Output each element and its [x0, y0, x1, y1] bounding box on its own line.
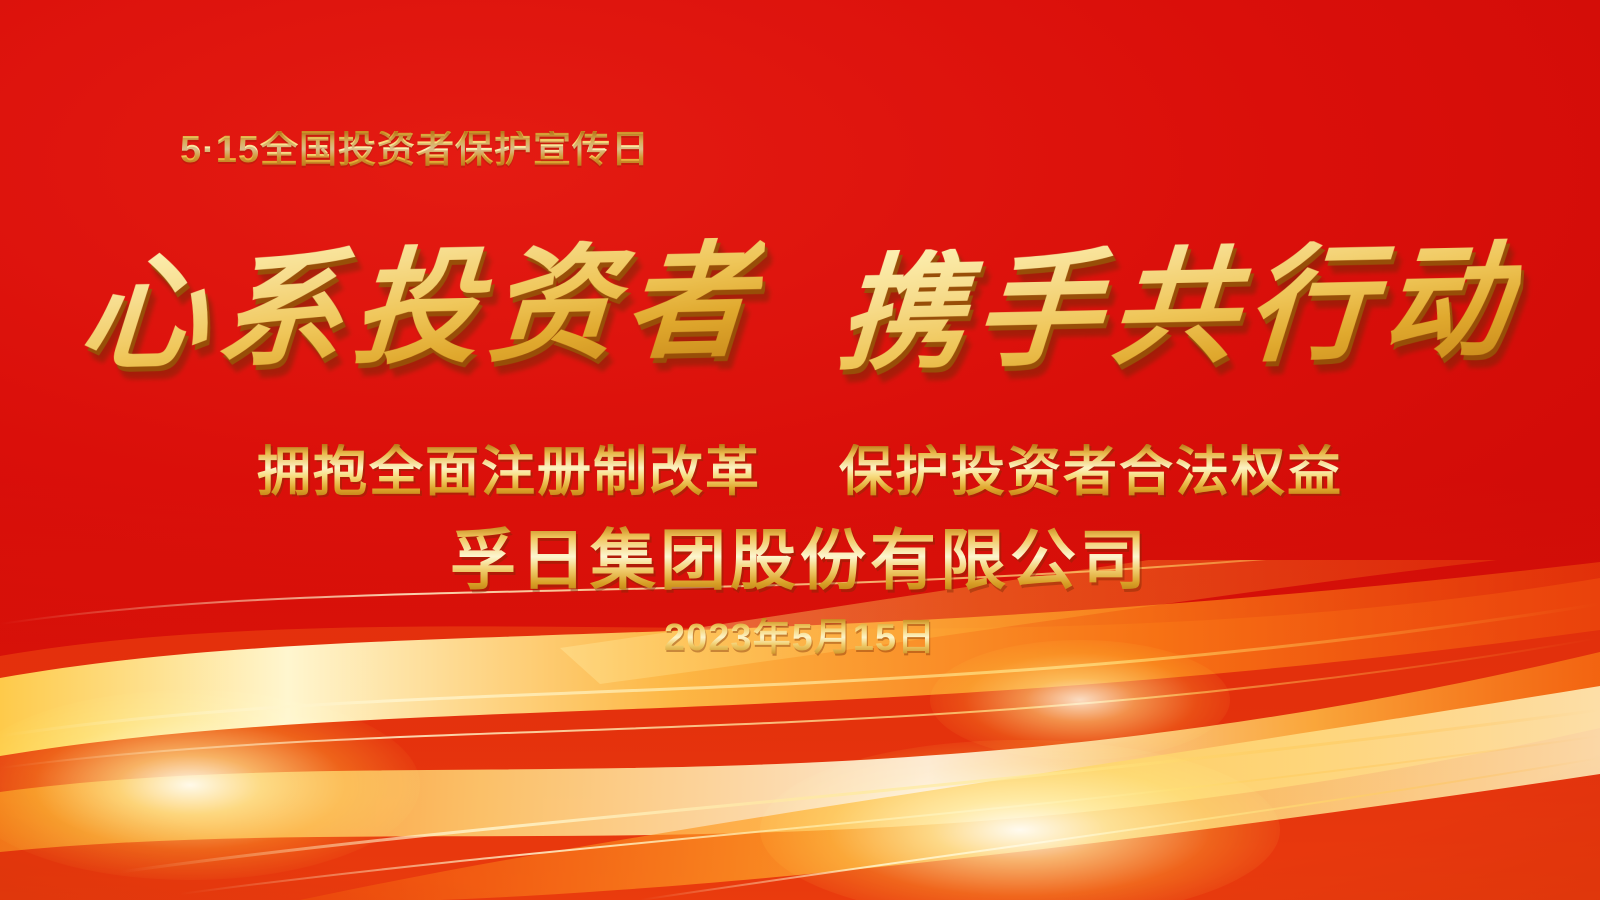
secondary-slogan-part-1: 拥抱全面注册制改革 — [257, 442, 761, 502]
secondary-slogan-part-2: 保护投资者合法权益 — [839, 442, 1343, 502]
campaign-day-label: 5·15全国投资者保护宣传日 — [180, 131, 650, 169]
poster-canvas: 5·15全国投资者保护宣传日 心系投资者 携手共行动 拥抱全面注册制改革 保护投… — [0, 0, 1600, 900]
company-name: 孚日集团股份有限公司 — [0, 524, 1600, 598]
secondary-slogan: 拥抱全面注册制改革 保护投资者合法权益 — [0, 444, 1600, 501]
main-slogan-part-1: 心系投资者 — [76, 237, 765, 377]
poster-content: 5·15全国投资者保护宣传日 心系投资者 携手共行动 拥抱全面注册制改革 保护投… — [0, 0, 1600, 900]
main-slogan-part-2: 携手共行动 — [835, 237, 1524, 377]
main-slogan: 心系投资者 携手共行动 — [0, 244, 1600, 370]
event-date: 2023年5月15日 — [0, 618, 1600, 660]
